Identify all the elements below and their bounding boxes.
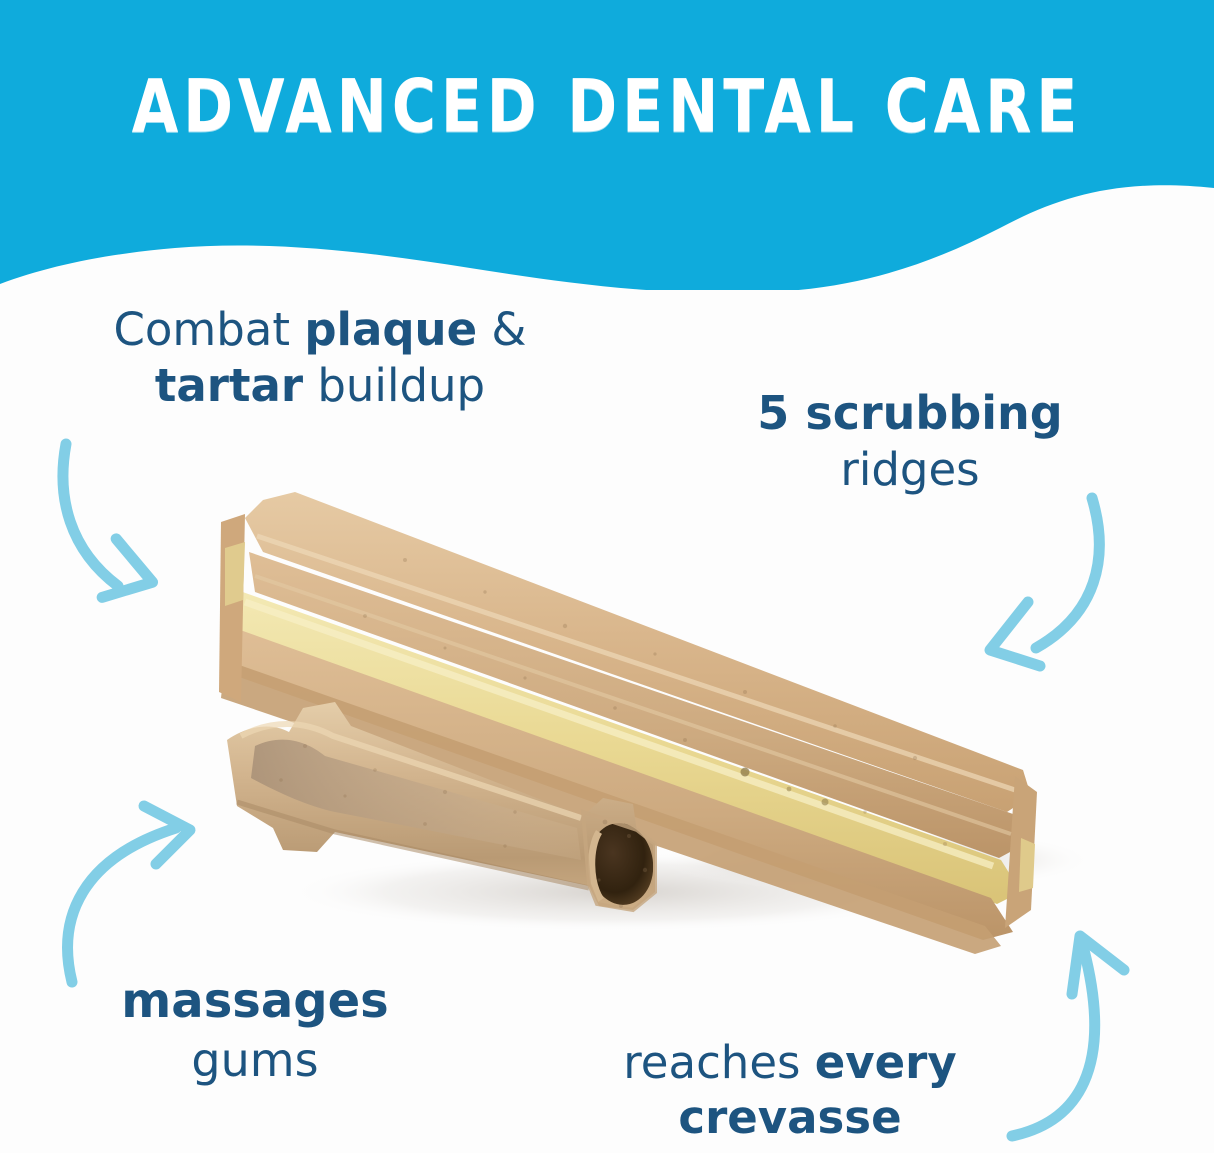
- curved-arrow-down-right-icon: [40, 420, 230, 625]
- callout-line-2: gums: [25, 1035, 485, 1087]
- callout-line-2: crevasse: [535, 1093, 1045, 1143]
- curved-arrow-up-icon: [1018, 908, 1198, 1153]
- callout-line-1: reaches every: [535, 1038, 1045, 1088]
- curved-arrow-up-right-icon: [48, 792, 248, 997]
- callout-line-2: ridges: [620, 445, 1200, 495]
- callout-text-every: every: [815, 1036, 957, 1089]
- callout-text-buildup: buildup: [303, 359, 485, 412]
- callout-line-1: 5 scrubbing: [620, 388, 1200, 440]
- callout-line-2: tartar buildup: [0, 361, 640, 411]
- callout-scrubbing-ridges: 5 scrubbing ridges: [620, 388, 1200, 495]
- callout-text-amp: &: [477, 303, 526, 356]
- callout-text-tartar: tartar: [155, 359, 303, 412]
- callout-text-reaches: reaches: [623, 1036, 814, 1089]
- callout-line-1: Combat plaque &: [0, 305, 640, 355]
- callout-combat-plaque-tartar: Combat plaque & tartar buildup: [0, 305, 640, 412]
- callout-text-plaque: plaque: [304, 303, 477, 356]
- curved-arrow-down-left-icon: [940, 492, 1140, 702]
- callout-reaches-every-crevasse: reaches every crevasse: [535, 1038, 1045, 1144]
- page-title: ADVANCED DENTAL CARE: [18, 63, 1196, 149]
- callout-text-combat: Combat: [113, 303, 304, 356]
- header-banner: ADVANCED DENTAL CARE: [0, 0, 1214, 290]
